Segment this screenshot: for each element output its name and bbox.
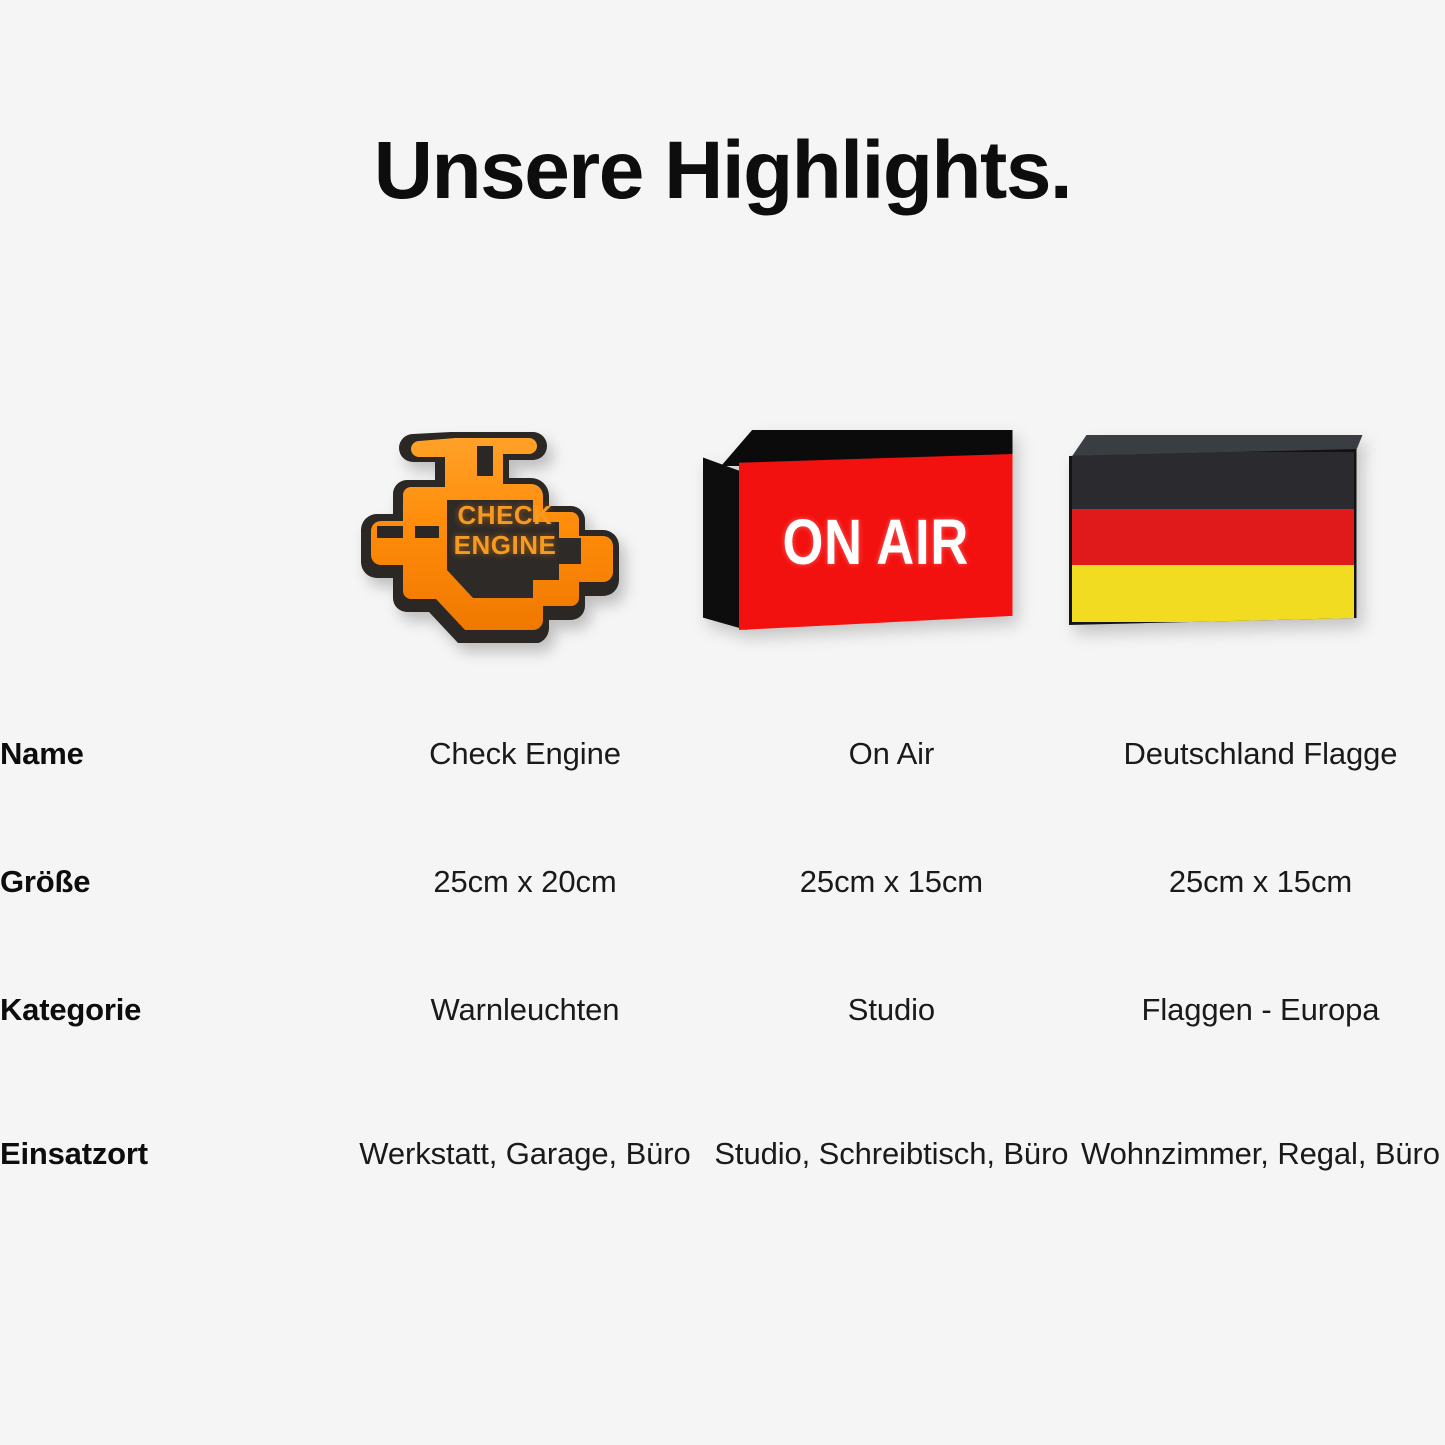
page-title: Unsere Highlights.	[0, 128, 1445, 214]
product-image-check-engine[interactable]: CHECK ENGINE	[330, 400, 680, 660]
cell-groesse-flagge: 25cm x 15cm	[1076, 818, 1445, 946]
cell-einsatzort-check-engine: Werkstatt, Garage, Büro	[343, 1074, 707, 1234]
cell-kategorie-check-engine: Warnleuchten	[343, 946, 707, 1074]
flag-band-gold	[1072, 565, 1354, 622]
table-row: Name Check Engine On Air Deutschland Fla…	[0, 690, 1445, 818]
cell-groesse-on-air: 25cm x 15cm	[707, 818, 1076, 946]
cell-name-on-air: On Air	[707, 690, 1076, 818]
product-image-on-air[interactable]: ON AIR	[680, 400, 1035, 660]
row-label-kategorie: Kategorie	[0, 946, 343, 1074]
table-row: Einsatzort Werkstatt, Garage, Büro Studi…	[0, 1074, 1445, 1234]
row-label-einsatzort: Einsatzort	[0, 1074, 343, 1234]
flag-band-red	[1072, 509, 1354, 566]
table-row: Größe 25cm x 20cm 25cm x 15cm 25cm x 15c…	[0, 818, 1445, 946]
flag-box-front-face	[1069, 449, 1357, 625]
row-label-name: Name	[0, 690, 343, 818]
product-image-strip: CHECK ENGINE ON AIR	[0, 400, 1445, 660]
check-engine-shape-svg	[355, 418, 655, 643]
on-air-lightbox: ON AIR	[703, 430, 1013, 630]
product-image-deutschland-flagge[interactable]	[1035, 400, 1390, 660]
cell-groesse-check-engine: 25cm x 20cm	[343, 818, 707, 946]
row-label-groesse: Größe	[0, 818, 343, 946]
on-air-sign-text: ON AIR	[782, 505, 969, 579]
cell-name-flagge: Deutschland Flagge	[1076, 690, 1445, 818]
flag-band-black	[1072, 452, 1354, 509]
cell-einsatzort-flagge: Wohnzimmer, Regal, Büro	[1076, 1074, 1445, 1234]
spec-comparison-table: Name Check Engine On Air Deutschland Fla…	[0, 690, 1445, 1234]
table-row: Kategorie Warnleuchten Studio Flaggen - …	[0, 946, 1445, 1074]
cell-kategorie-on-air: Studio	[707, 946, 1076, 1074]
germany-flag-lightbox	[1063, 435, 1363, 625]
on-air-box-front-face: ON AIR	[739, 454, 1013, 630]
check-engine-lamp-icon: CHECK ENGINE	[355, 418, 655, 643]
cell-kategorie-flagge: Flaggen - Europa	[1076, 946, 1445, 1074]
cell-name-check-engine: Check Engine	[343, 690, 707, 818]
highlights-page: Unsere Highlights.	[0, 0, 1445, 1445]
cell-einsatzort-on-air: Studio, Schreibtisch, Büro	[707, 1074, 1076, 1234]
